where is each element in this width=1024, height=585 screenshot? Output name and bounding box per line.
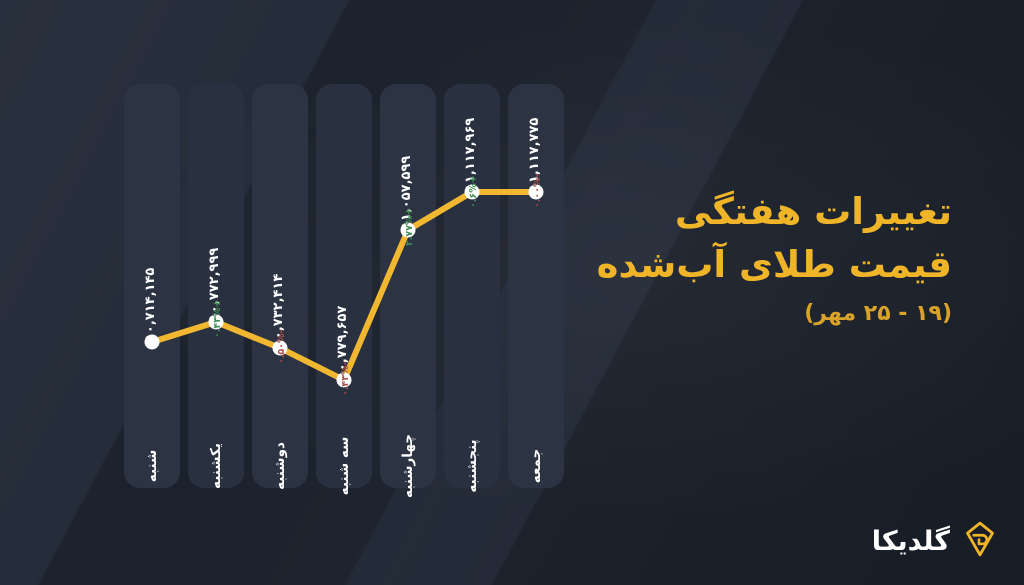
brand-logo: گلدیکا — [872, 519, 1000, 563]
page-title-line-2: قیمت طلای آب‌شده — [592, 239, 952, 292]
headline-block: تغییرات هفتگی قیمت طلای آب‌شده (۱۹ - ۲۵ … — [592, 186, 952, 326]
page-title-line-1: تغییرات هفتگی — [592, 186, 952, 239]
value-label-1: ۱۰,۷۱۴,۱۴۵ — [143, 268, 158, 341]
brand-name: گلدیکا — [872, 526, 950, 557]
delta-label-4: -۰.۴۳% — [340, 362, 351, 396]
delta-label-3: -۰.۵۰% — [276, 330, 287, 364]
delta-label-5: +۲.۷۷% — [404, 208, 415, 247]
date-range-subtitle: (۱۹ - ۲۵ مهر) — [592, 301, 952, 326]
price-line-plot — [124, 84, 564, 488]
delta-label-6: +۰.۶% — [468, 175, 479, 208]
weekly-price-chart: شنبهیکشنبهدوشنبهسه شنبهچهارشنبهپنجشنبهجم… — [124, 84, 564, 488]
delta-label-7: -۰.۰۰% — [532, 174, 543, 208]
diamond-gem-icon — [960, 519, 1000, 563]
delta-label-2: +۰.۴۳% — [212, 300, 223, 339]
